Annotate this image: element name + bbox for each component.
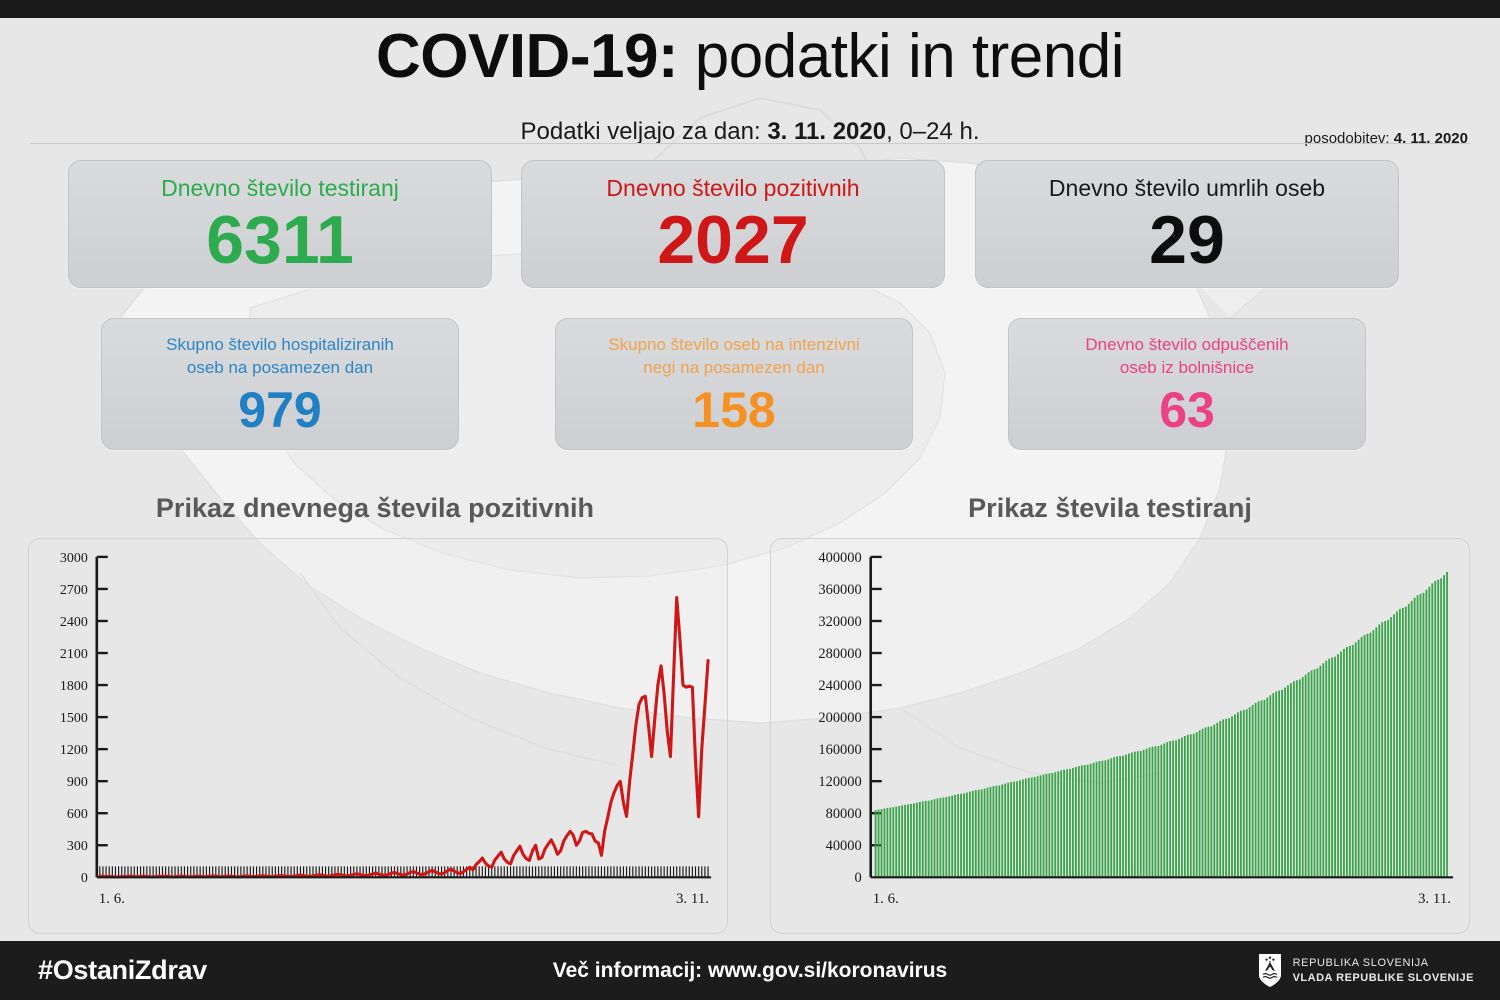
chart-panel-daily-positives: 030060090012001500180021002400270030001.… — [28, 538, 728, 934]
stat-card-label-line1: Dnevno število odpuščenih — [1085, 335, 1288, 354]
stat-card-daily-tests: Dnevno število testiranj 6311 — [68, 160, 492, 288]
gov-logo-line1: REPUBLIKA SLOVENIJA — [1293, 956, 1474, 971]
stat-card-hospitalized: Skupno število hospitaliziranih oseb na … — [101, 318, 459, 450]
y-axis-tick-label: 1200 — [60, 743, 88, 758]
chart-daily-positives[interactable]: 030060090012001500180021002400270030001.… — [29, 539, 727, 933]
y-axis-tick-label: 600 — [67, 807, 88, 822]
y-axis-tick-label: 1500 — [60, 711, 88, 726]
header-divider — [30, 143, 1470, 144]
updated-date: 4. 11. 2020 — [1394, 130, 1468, 147]
stat-card-label: Dnevno število odpuščenih oseb iz bolniš… — [1009, 333, 1365, 379]
stat-card-value: 29 — [976, 206, 1398, 274]
y-axis-tick-label: 40000 — [826, 838, 862, 854]
stat-card-label-line2: oseb iz bolnišnice — [1120, 358, 1254, 377]
page-title: COVID-19: podatki in trendi — [0, 22, 1500, 92]
y-axis-tick-label: 0 — [81, 871, 88, 886]
gov-logo: REPUBLIKA SLOVENIJA VLADA REPUBLIKE SLOV… — [1257, 953, 1474, 988]
gov-logo-line2: VLADA REPUBLIKE SLOVENIJE — [1293, 971, 1474, 986]
y-axis-tick-label: 120000 — [818, 774, 861, 790]
page-title-bold: COVID-19: — [376, 22, 678, 91]
stat-card-label: Dnevno število testiranj — [69, 174, 491, 202]
subtitle-date: 3. 11. 2020 — [767, 118, 886, 145]
chart-panel-cumulative-tests: 0400008000012000016000020000024000028000… — [770, 538, 1470, 934]
slovenia-coat-of-arms-icon — [1257, 953, 1283, 988]
y-axis-tick-label: 320000 — [818, 614, 861, 630]
stat-card-label: Skupno število hospitaliziranih oseb na … — [102, 333, 458, 379]
y-axis-tick-label: 3000 — [60, 551, 88, 566]
stat-card-released: Dnevno število odpuščenih oseb iz bolniš… — [1008, 318, 1366, 450]
y-axis-tick-label: 2400 — [60, 615, 88, 630]
stat-card-value: 63 — [1009, 385, 1365, 435]
chart-title-cumulative-tests: Prikaz števila testiranj — [765, 493, 1455, 524]
subtitle-suffix: , 0–24 h. — [886, 118, 979, 145]
subtitle-prefix: Podatki veljajo za dan: — [520, 118, 767, 145]
y-axis-tick-label: 900 — [67, 775, 88, 790]
y-axis-tick-label: 360000 — [818, 582, 861, 598]
top-black-bar — [0, 0, 1500, 18]
y-axis-tick-label: 160000 — [818, 742, 861, 758]
y-axis-tick-label: 80000 — [826, 806, 862, 822]
gov-logo-text: REPUBLIKA SLOVENIJA VLADA REPUBLIKE SLOV… — [1293, 956, 1474, 985]
x-axis-end-date: 3. 11. — [676, 891, 709, 907]
footer: #OstaniZdrav Več informacij: www.gov.si/… — [0, 941, 1500, 1000]
stat-card-label-line2: negi na posamezen dan — [643, 358, 824, 377]
stat-card-daily-deaths: Dnevno število umrlih oseb 29 — [975, 160, 1399, 288]
updated-label: posodobitev: — [1305, 130, 1394, 147]
page-title-light: podatki in trendi — [678, 22, 1124, 91]
y-axis-tick-label: 200000 — [818, 710, 861, 726]
infographic-root: COVID-19: podatki in trendi Podatki velj… — [0, 0, 1500, 1000]
x-axis-end-date: 3. 11. — [1418, 891, 1451, 907]
chart-title-daily-positives: Prikaz dnevnega števila pozitivnih — [30, 493, 720, 524]
stat-card-value: 2027 — [522, 206, 944, 274]
stat-card-label: Skupno število oseb na intenzivni negi n… — [556, 333, 912, 379]
stat-card-value: 158 — [556, 385, 912, 435]
data-line-series — [100, 597, 708, 876]
stat-card-value: 979 — [102, 385, 458, 435]
stat-card-label: Dnevno število pozitivnih — [522, 174, 944, 202]
header: COVID-19: podatki in trendi Podatki velj… — [0, 18, 1500, 140]
chart-cumulative-tests[interactable]: 0400008000012000016000020000024000028000… — [771, 539, 1469, 933]
stat-card-intensive-care: Skupno število oseb na intenzivni negi n… — [555, 318, 913, 450]
stat-card-label: Dnevno število umrlih oseb — [976, 174, 1398, 202]
y-axis-tick-label: 2100 — [60, 647, 88, 662]
y-axis-tick-label: 240000 — [818, 678, 861, 694]
y-axis-tick-label: 280000 — [818, 646, 861, 662]
y-axis-tick-label: 0 — [855, 870, 862, 886]
stat-card-daily-positive: Dnevno število pozitivnih 2027 — [521, 160, 945, 288]
y-axis-tick-label: 400000 — [818, 550, 861, 566]
x-axis-start-date: 1. 6. — [873, 891, 899, 907]
y-axis-tick-label: 300 — [67, 839, 88, 854]
last-updated: posodobitev: 4. 11. 2020 — [1305, 130, 1468, 147]
stat-card-value: 6311 — [69, 206, 491, 274]
y-axis-tick-label: 1800 — [60, 679, 88, 694]
stat-card-label-line2: oseb na posamezen dan — [187, 358, 373, 377]
x-axis-start-date: 1. 6. — [99, 891, 125, 907]
y-axis-tick-label: 2700 — [60, 583, 88, 598]
data-bar-series — [875, 572, 1448, 877]
data-date-subtitle: Podatki veljajo za dan: 3. 11. 2020, 0–2… — [0, 118, 1500, 146]
stat-card-label-line1: Skupno število hospitaliziranih — [166, 335, 394, 354]
stat-card-label-line1: Skupno število oseb na intenzivni — [608, 335, 859, 354]
